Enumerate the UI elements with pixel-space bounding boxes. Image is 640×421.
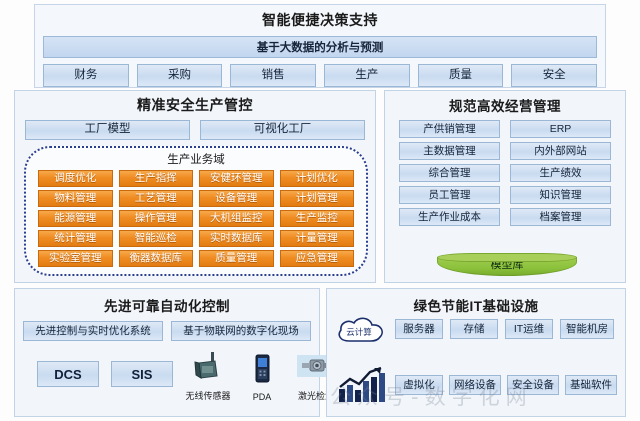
module-energy-management[interactable]: 能源管理 [38, 210, 113, 227]
chip-visual-factory[interactable]: 可视化工厂 [200, 120, 365, 140]
chip-basic-software[interactable]: 基础软件 [565, 375, 617, 395]
chip-supply-production-sales[interactable]: 产供销管理 [399, 120, 500, 138]
model-library-cylinder[interactable]: 模型库 [437, 253, 577, 278]
control-systems-row: DCS SIS [37, 361, 173, 387]
production-chip-row: 工厂模型 可视化工厂 [25, 120, 365, 140]
chip-factory-model[interactable]: 工厂模型 [25, 120, 190, 140]
production-control-title: 精准安全生产管控 [15, 91, 375, 118]
module-laboratory-management[interactable]: 实验室管理 [38, 250, 113, 267]
architecture-diagram: 智能便捷决策支持 基于大数据的分析与预测 财务 采购 销售 生产 质量 安全 精… [0, 0, 640, 421]
module-quality-management[interactable]: 质量管理 [199, 250, 274, 267]
chip-dcs[interactable]: DCS [37, 361, 99, 387]
chip-safety[interactable]: 安全 [511, 64, 597, 87]
wireless-sensor-icon [191, 349, 225, 383]
module-process-management[interactable]: 工艺管理 [119, 190, 194, 207]
it-chip-row-1: 服务器 存储 IT运维 智能机房 [395, 319, 614, 339]
automation-chip-row: 先进控制与实时优化系统 基于物联网的数字化现场 [23, 321, 311, 341]
chip-knowledge-management[interactable]: 知识管理 [510, 186, 611, 204]
decision-chip-row: 财务 采购 销售 生产 质量 安全 [43, 64, 597, 87]
decision-support-title: 智能便捷决策支持 [35, 5, 605, 33]
bigdata-analysis-banner: 基于大数据的分析与预测 [43, 36, 597, 58]
module-emergency-management[interactable]: 应急管理 [280, 250, 355, 267]
business-management-panel: 规范高效经营管理 产供销管理 ERP 主数据管理 内外部网站 综合管理 生产绩效… [384, 90, 626, 283]
module-scale-database[interactable]: 衡器数据库 [119, 250, 194, 267]
chip-smart-data-center[interactable]: 智能机房 [560, 319, 614, 339]
chip-virtualization[interactable]: 虚拟化 [395, 375, 443, 395]
chip-storage[interactable]: 存储 [450, 319, 498, 339]
device-wireless-sensor[interactable]: 无线传感器 [185, 349, 231, 402]
module-scheduling-optimization[interactable]: 调度优化 [38, 170, 113, 187]
svg-text:云计算: 云计算 [346, 327, 372, 338]
chip-production-performance[interactable]: 生产绩效 [510, 164, 611, 182]
business-management-title: 规范高效经营管理 [385, 91, 625, 118]
module-plan-optimization[interactable]: 计划优化 [280, 170, 355, 187]
chip-sis[interactable]: SIS [111, 361, 173, 387]
module-metering-management[interactable]: 计量管理 [280, 230, 355, 247]
module-plan-management[interactable]: 计划管理 [280, 190, 355, 207]
cloud-computing-icon: 云计算 [335, 315, 391, 345]
chip-sales[interactable]: 销售 [230, 64, 316, 87]
module-realtime-database[interactable]: 实时数据库 [199, 230, 274, 247]
chip-finance[interactable]: 财务 [43, 64, 129, 87]
production-module-grid: 调度优化 生产指挥 安健环管理 计划优化 物料管理 工艺管理 设备管理 计划管理… [38, 170, 354, 267]
model-library-top [437, 253, 577, 262]
module-large-unit-monitoring[interactable]: 大机组监控 [199, 210, 274, 227]
device-label-pda: PDA [239, 392, 285, 402]
module-equipment-management[interactable]: 设备管理 [199, 190, 274, 207]
chip-security-equipment[interactable]: 安全设备 [507, 375, 559, 395]
device-pda[interactable]: PDA [239, 352, 285, 402]
production-business-domain: 生产业务域 调度优化 生产指挥 安健环管理 计划优化 物料管理 工艺管理 设备管… [24, 146, 368, 276]
chip-internal-external-website[interactable]: 内外部网站 [510, 142, 611, 160]
automation-control-panel: 先进可靠自动化控制 先进控制与实时优化系统 基于物联网的数字化现场 DCS SI… [14, 288, 320, 417]
production-control-panel: 精准安全生产管控 工厂模型 可视化工厂 生产业务域 调度优化 生产指挥 安健环管… [14, 90, 376, 283]
decision-support-panel: 智能便捷决策支持 基于大数据的分析与预测 财务 采购 销售 生产 质量 安全 [34, 4, 606, 88]
chip-production[interactable]: 生产 [324, 64, 410, 87]
chip-employee-management[interactable]: 员工管理 [399, 186, 500, 204]
chip-network-equipment[interactable]: 网络设备 [449, 375, 501, 395]
module-smart-inspection[interactable]: 智能巡检 [119, 230, 194, 247]
business-domain-title: 生产业务域 [26, 148, 366, 167]
module-hse-management[interactable]: 安健环管理 [199, 170, 274, 187]
module-statistics-management[interactable]: 统计管理 [38, 230, 113, 247]
field-device-icons: 无线传感器 PDA [185, 349, 339, 402]
it-infrastructure-panel: 绿色节能IT基础设施 云计算 服务器 存储 IT运维 智能机房 虚拟化 网络设备… [326, 288, 626, 417]
chip-quality[interactable]: 质量 [418, 64, 504, 87]
chip-procurement[interactable]: 采购 [137, 64, 223, 87]
business-chip-grid: 产供销管理 ERP 主数据管理 内外部网站 综合管理 生产绩效 员工管理 知识管… [399, 120, 611, 226]
chip-erp[interactable]: ERP [510, 120, 611, 138]
chip-server[interactable]: 服务器 [395, 319, 443, 339]
chip-master-data-management[interactable]: 主数据管理 [399, 142, 500, 160]
automation-control-title: 先进可靠自动化控制 [15, 289, 319, 318]
chip-iot-digital-site[interactable]: 基于物联网的数字化现场 [171, 321, 311, 341]
device-label-wireless-sensor: 无线传感器 [185, 389, 231, 402]
chip-comprehensive-management[interactable]: 综合管理 [399, 164, 500, 182]
chip-advanced-control-rto[interactable]: 先进控制与实时优化系统 [23, 321, 163, 341]
pda-icon [245, 352, 279, 386]
it-chip-row-2: 虚拟化 网络设备 安全设备 基础软件 [395, 375, 617, 395]
chip-archive-management[interactable]: 档案管理 [510, 208, 611, 226]
module-production-monitoring[interactable]: 生产监控 [280, 210, 355, 227]
bar-chart-growth-icon [337, 365, 389, 403]
chip-it-operations[interactable]: IT运维 [505, 319, 553, 339]
module-operation-management[interactable]: 操作管理 [119, 210, 194, 227]
module-production-command[interactable]: 生产指挥 [119, 170, 194, 187]
it-infrastructure-title: 绿色节能IT基础设施 [327, 289, 625, 318]
chip-production-operation-cost[interactable]: 生产作业成本 [399, 208, 500, 226]
module-material-management[interactable]: 物料管理 [38, 190, 113, 207]
